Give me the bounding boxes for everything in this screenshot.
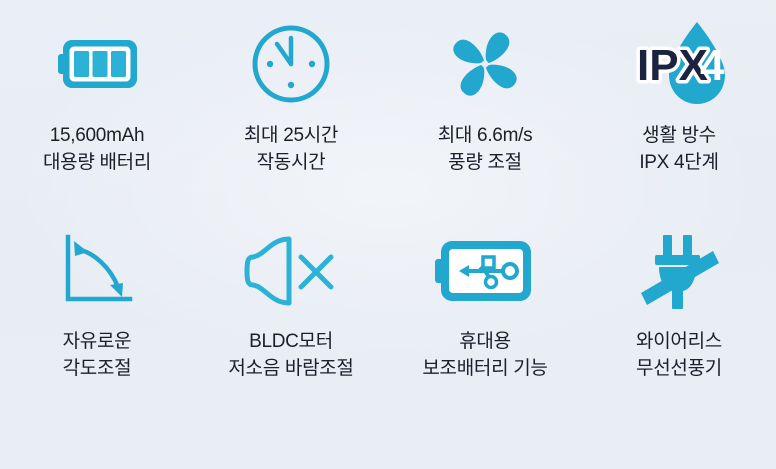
feature-board: 15,600mAh 대용량 배터리 최대 25시간 작동시간 [0,0,776,469]
feature-caption-line-1: 최대 6.6m/s [438,122,533,149]
feature-caption-line-1: BLDC모터 [228,328,353,355]
feature-caption: 와이어리스 무선선풍기 [636,328,722,382]
feature-caption: 휴대용 보조배터리 기능 [422,328,547,382]
angle-arrow-icon [54,226,140,316]
feature-caption-line-1: 자유로운 [63,328,132,355]
feature-caption-line-2: IPX 4단계 [639,149,718,176]
plug-slash-icon [633,226,725,316]
feature-caption-line-1: 최대 25시간 [244,122,338,149]
feature-cell-angle-adjust: 자유로운 각도조절 [0,226,194,434]
feature-caption: 자유로운 각도조절 [63,328,132,382]
feature-caption-line-2: 작동시간 [244,149,338,176]
water-droplet-ipx4-icon: IPX IPX 4 [609,18,749,110]
speaker-mute-icon [241,226,341,316]
battery-full-icon [49,18,145,110]
feature-cell-bldc-motor: BLDC모터 저소음 바람조절 [194,226,388,434]
feature-cell-battery-capacity: 15,600mAh 대용량 배터리 [0,18,194,226]
fan-blade-icon [443,18,527,110]
ipx-label: IPX [637,41,708,90]
feature-caption: BLDC모터 저소음 바람조절 [228,328,353,382]
feature-caption-line-1: 와이어리스 [636,328,722,355]
feature-caption-line-2: 대용량 배터리 [43,149,151,176]
feature-caption-line-2: 보조배터리 기능 [422,355,547,382]
feature-caption: 15,600mAh 대용량 배터리 [43,122,151,176]
feature-cell-run-time: 최대 25시간 작동시간 [194,18,388,226]
feature-caption: 생활 방수 IPX 4단계 [639,122,718,176]
feature-caption-line-2: 무선선풍기 [636,355,722,382]
feature-caption-line-1: 휴대용 [422,328,547,355]
feature-caption-line-2: 풍량 조절 [438,149,533,176]
feature-caption-line-2: 각도조절 [63,355,132,382]
clock-icon [245,18,337,110]
feature-caption: 최대 25시간 작동시간 [244,122,338,176]
battery-usb-icon [429,226,541,316]
feature-caption-line-2: 저소음 바람조절 [228,355,353,382]
feature-caption-line-1: 생활 방수 [639,122,718,149]
feature-caption: 최대 6.6m/s 풍량 조절 [438,122,533,176]
feature-cell-airflow-speed: 최대 6.6m/s 풍량 조절 [388,18,582,226]
feature-cell-power-bank: 휴대용 보조배터리 기능 [388,226,582,434]
ipx-level-label: 4 [700,41,725,90]
feature-cell-wireless: 와이어리스 무선선풍기 [582,226,776,434]
feature-cell-water-resistance: IPX IPX 4 생활 방수 IPX 4단계 [582,18,776,226]
feature-caption-line-1: 15,600mAh [43,122,151,149]
feature-grid: 15,600mAh 대용량 배터리 최대 25시간 작동시간 [0,0,776,469]
